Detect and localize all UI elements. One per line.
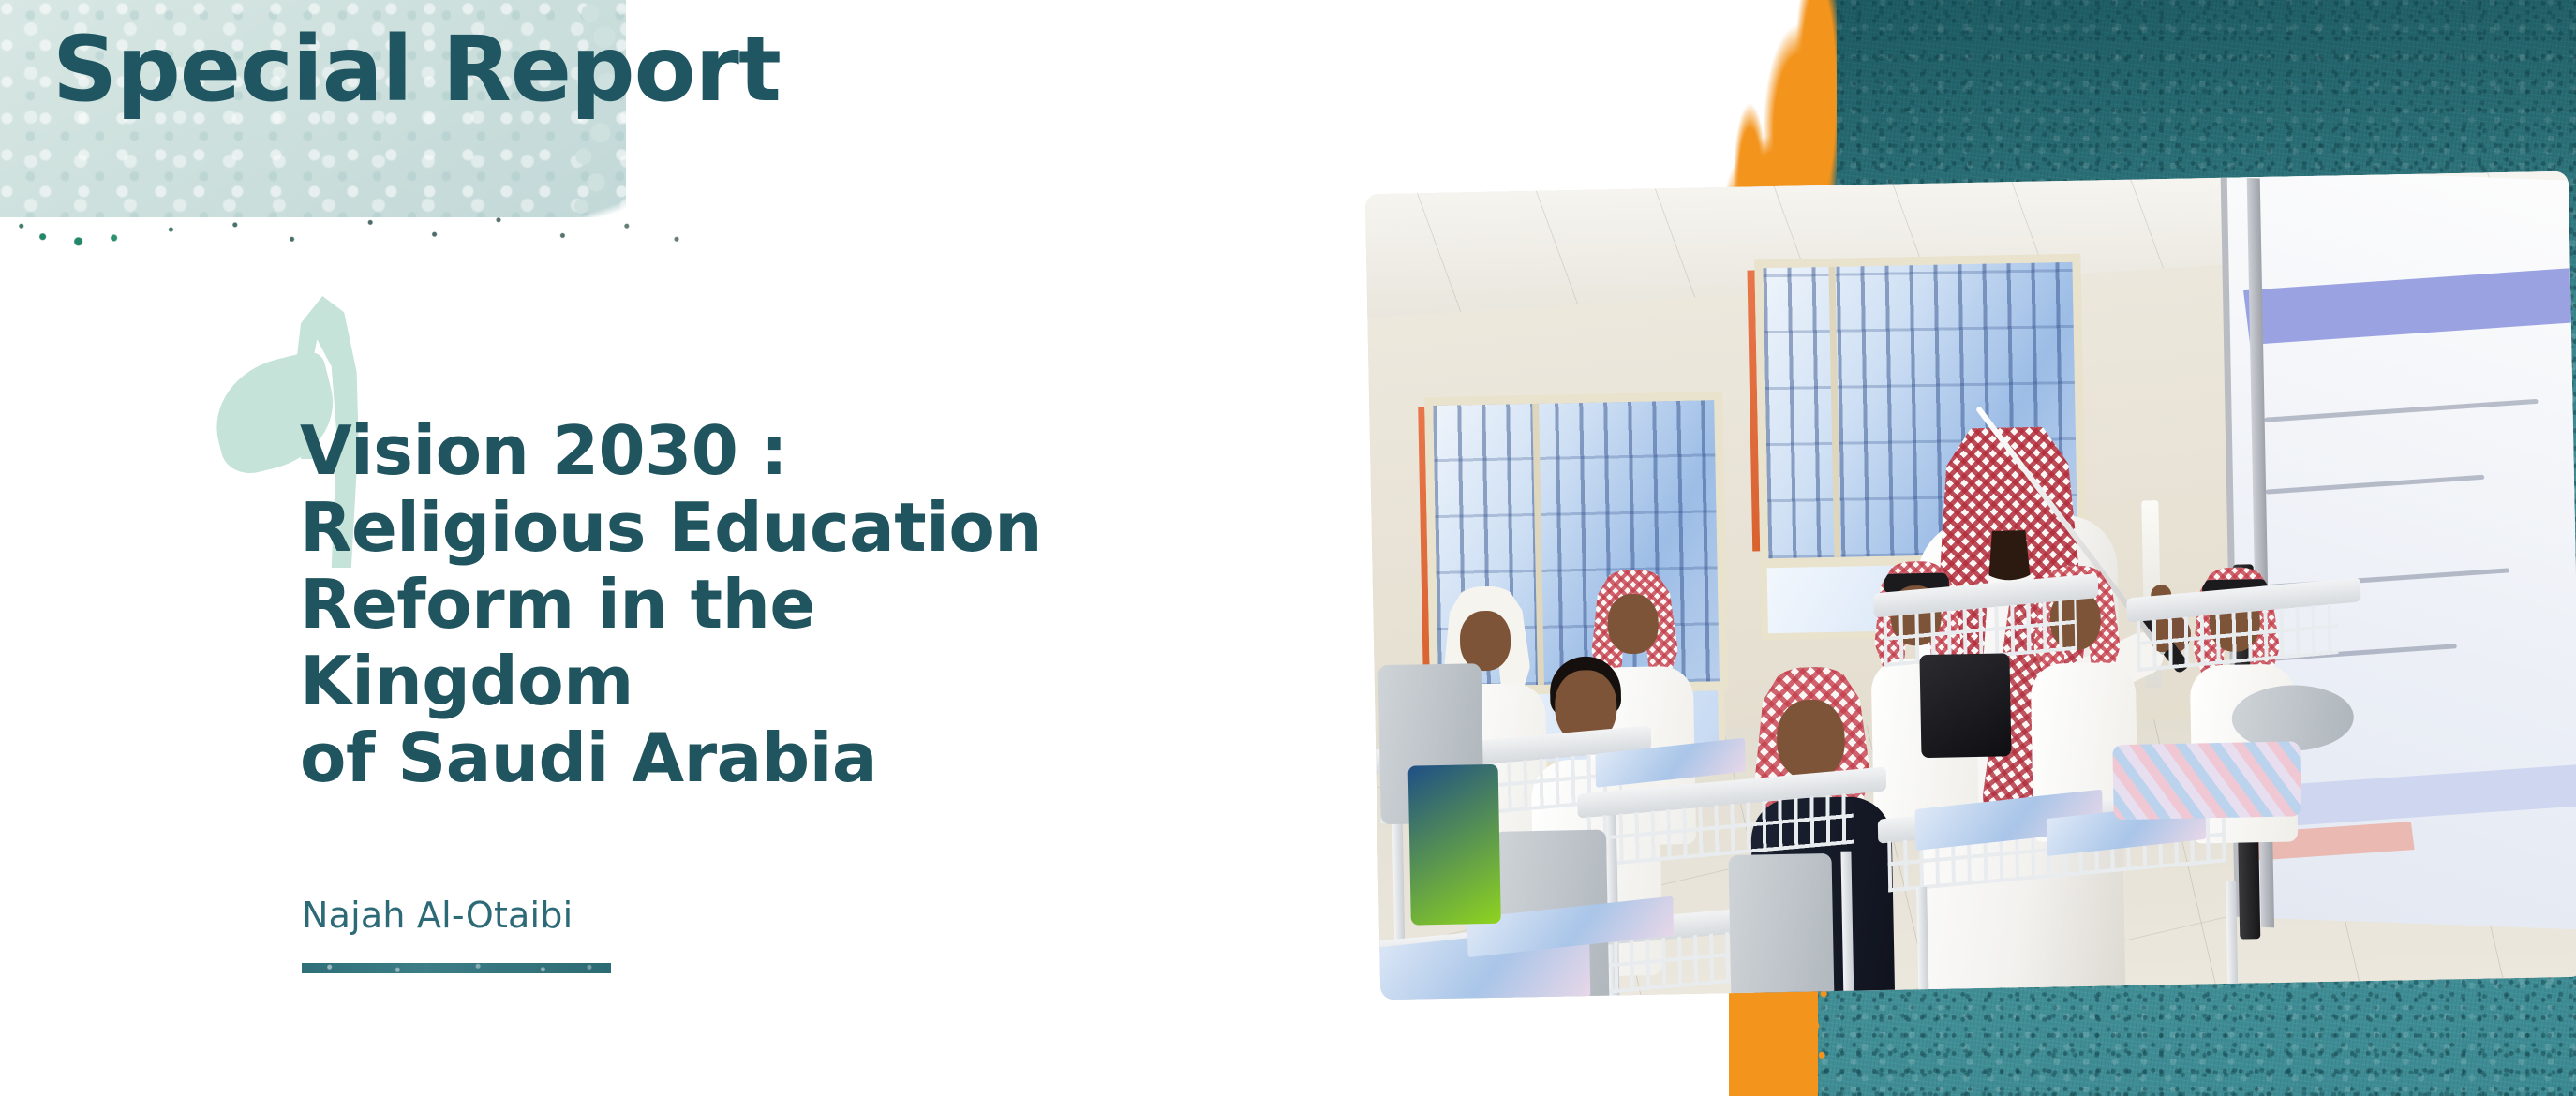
title-line-2: Religious Education <box>300 489 1143 566</box>
student-head <box>1777 699 1846 780</box>
slide-banner-stripe <box>2253 763 2576 828</box>
special-report-kicker: Special Report <box>52 21 781 120</box>
orange-fleck <box>1711 144 1726 163</box>
school-desk <box>1873 581 2099 651</box>
school-desk <box>2126 585 2361 658</box>
orange-fleck <box>1792 52 1806 73</box>
student-bag <box>1920 653 2012 758</box>
page-title: Vision 2030 : Religious Education Reform… <box>300 412 1143 796</box>
slide-banner-stripe <box>2242 266 2576 345</box>
slide-text-line <box>2265 475 2484 495</box>
classroom-photo <box>1365 171 2576 1000</box>
orange-fleck <box>1747 28 1759 51</box>
green-speckle-brush <box>0 208 712 268</box>
student-backpack <box>1408 764 1501 926</box>
title-line-1: Vision 2030 : <box>300 412 1143 489</box>
student-head <box>1607 593 1659 654</box>
title-line-4: of Saudi Arabia <box>300 719 1143 796</box>
orange-fleck <box>1771 7 1780 24</box>
orange-fleck <box>1696 111 1717 135</box>
author-underline <box>302 963 611 973</box>
student-chair <box>1729 853 1837 1000</box>
student-head <box>1460 610 1511 671</box>
folded-blanket <box>2113 741 2301 820</box>
title-line-3: Reform in the Kingdom <box>300 566 1143 719</box>
slide-text-line <box>2263 399 2538 422</box>
photo-content <box>1365 171 2576 1000</box>
author-name: Najah Al-Otaibi <box>302 895 573 936</box>
